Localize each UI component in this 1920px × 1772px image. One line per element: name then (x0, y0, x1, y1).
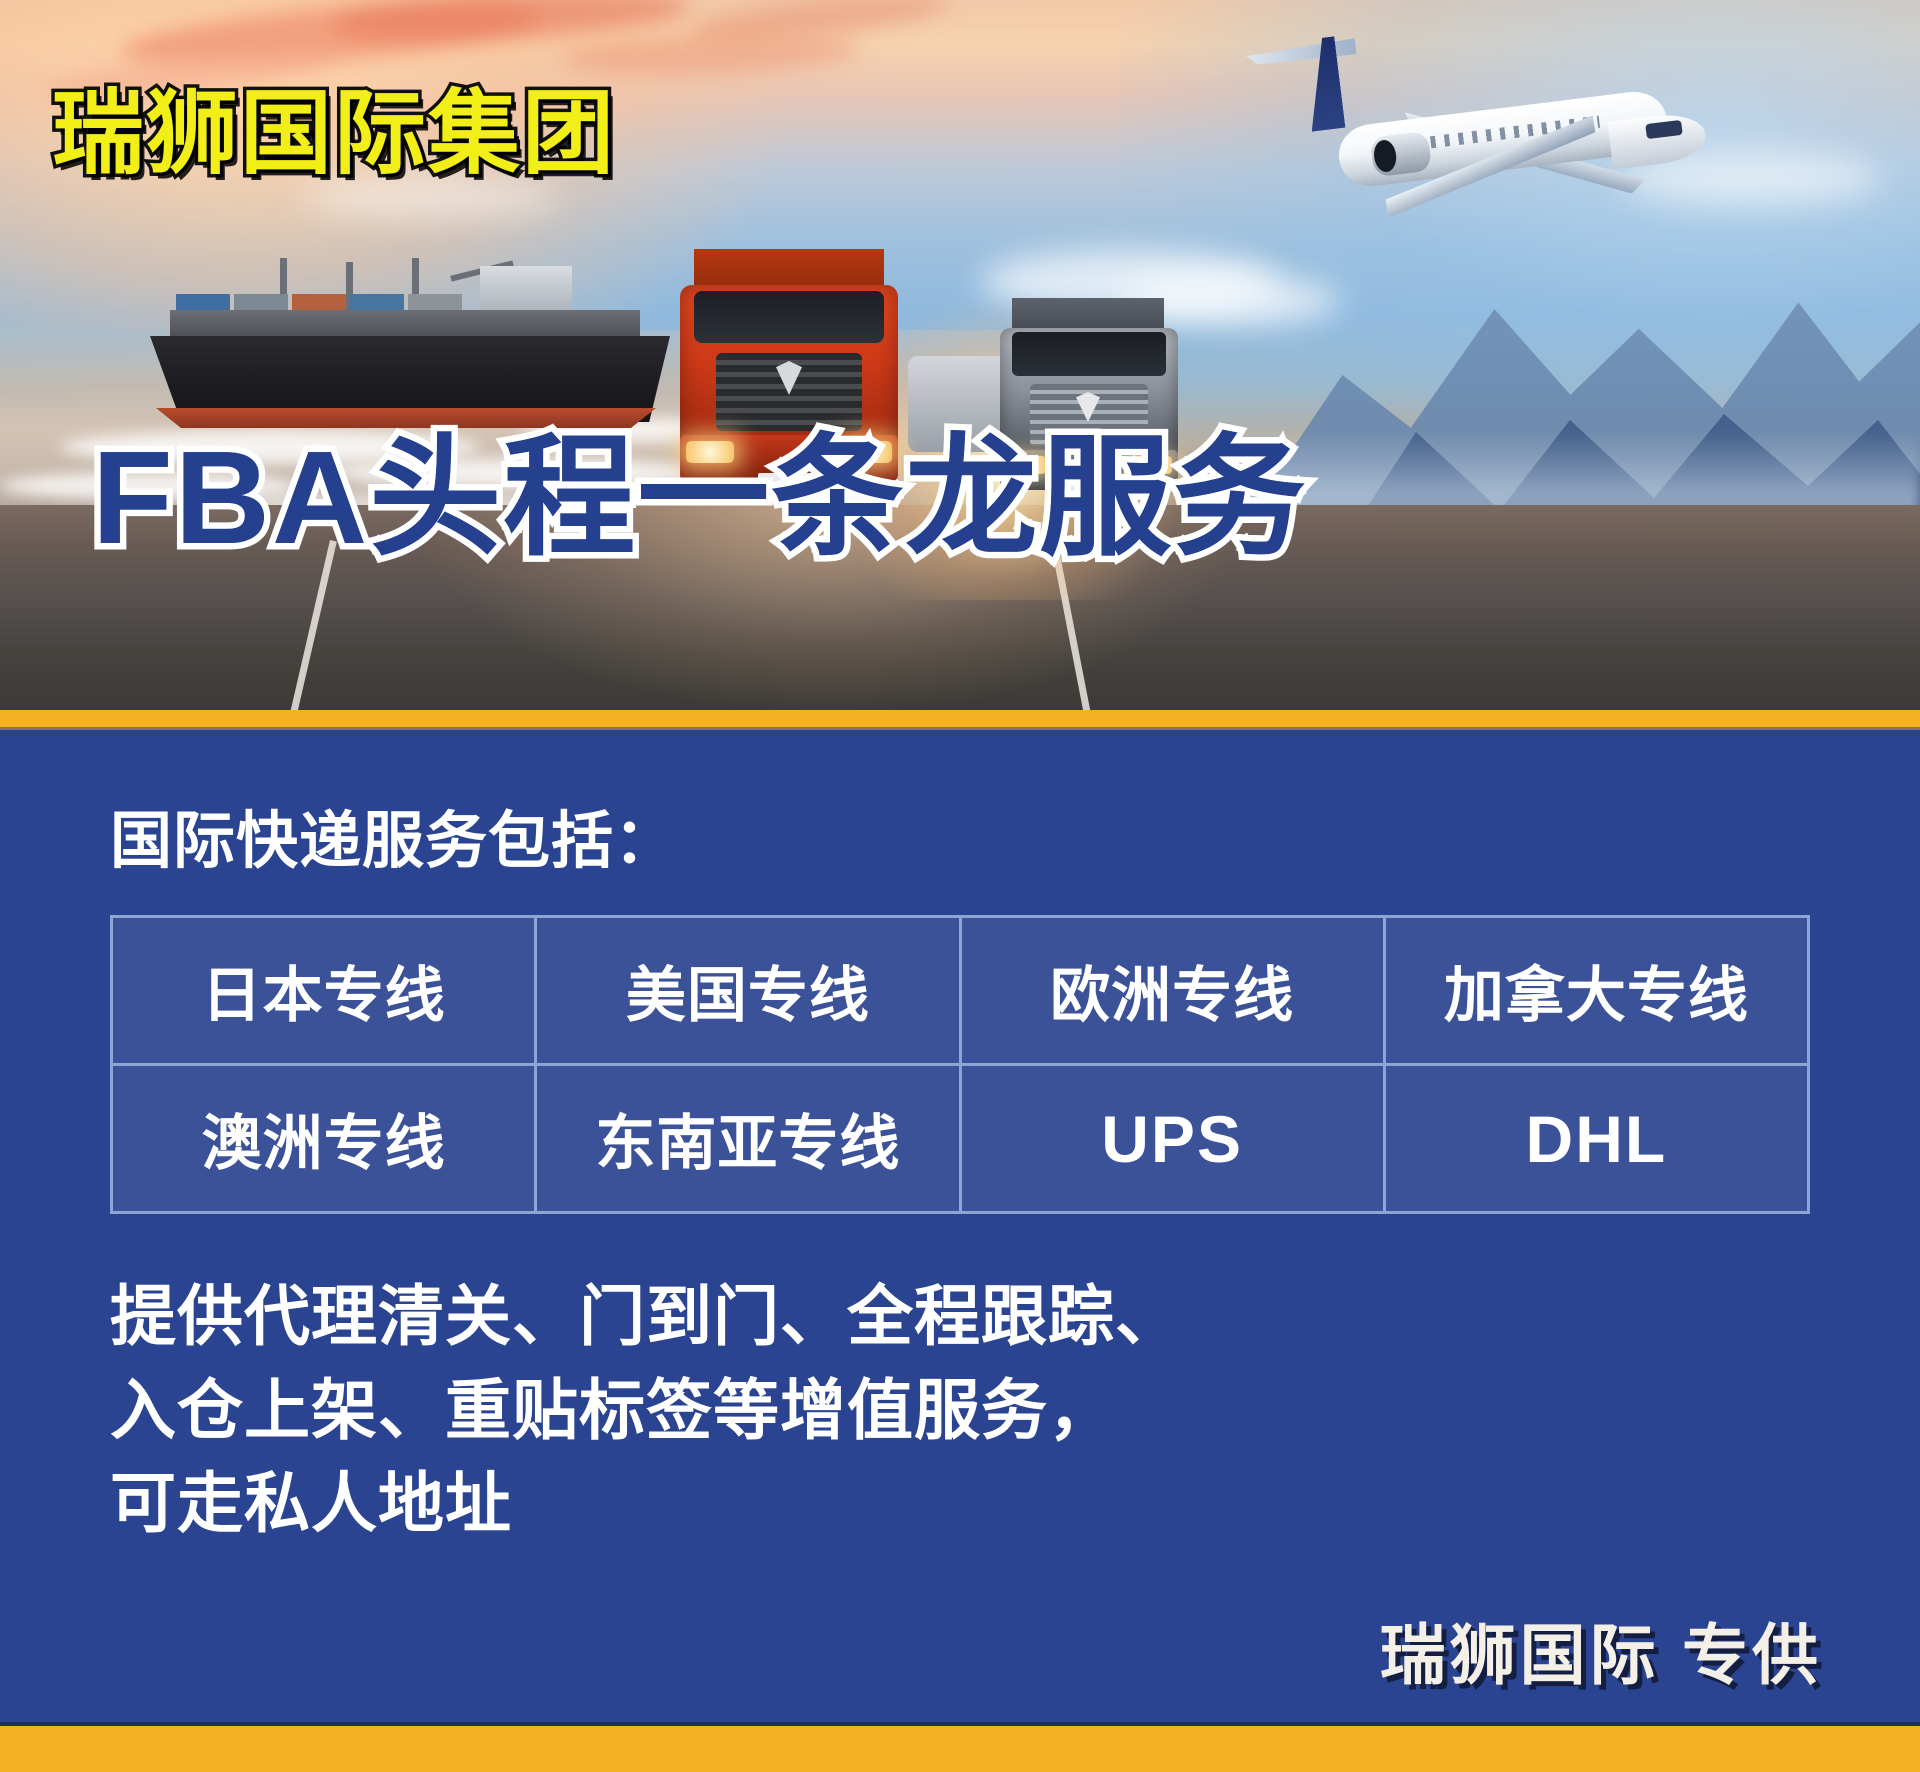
bottom-gold-bar (0, 1726, 1920, 1772)
service-cell-jp[interactable]: 日本专线 (112, 917, 536, 1065)
poster-root: 瑞狮国际集团 FBA头程一条龙服务 FBA头程一条龙服务 国际快递服务包括： 日… (0, 0, 1920, 1772)
info-panel: 国际快递服务包括： 日本专线 美国专线 欧洲专线 加拿大专线 澳洲专线 东南亚专… (0, 730, 1920, 1726)
cargo-ship-icon (150, 258, 670, 428)
hero-headline: FBA头程一条龙服务 (92, 432, 1307, 564)
windshield (1012, 332, 1166, 376)
service-cell-sea[interactable]: 东南亚专线 (536, 1065, 960, 1213)
nose-cone (1607, 110, 1708, 169)
windshield (694, 291, 884, 343)
hero-image: 瑞狮国际集团 FBA头程一条龙服务 FBA头程一条龙服务 (0, 0, 1920, 712)
brand-signature: 瑞狮国际 专供 (1380, 1602, 1822, 1698)
service-cell-au[interactable]: 澳洲专线 (112, 1065, 536, 1213)
table-row: 日本专线 美国专线 欧洲专线 加拿大专线 (112, 917, 1809, 1065)
services-table: 日本专线 美国专线 欧洲专线 加拿大专线 澳洲专线 东南亚专线 UPS DHL (110, 915, 1810, 1214)
service-cell-us[interactable]: 美国专线 (536, 917, 960, 1065)
service-cell-ups[interactable]: UPS (960, 1065, 1384, 1213)
ship-deck (170, 310, 640, 340)
service-cell-eu[interactable]: 欧洲专线 (960, 917, 1384, 1065)
service-cell-ca[interactable]: 加拿大专线 (1384, 917, 1808, 1065)
paragraph-line-1: 提供代理清关、门到门、全程跟踪、 (110, 1270, 1182, 1364)
service-cell-dhl[interactable]: DHL (1384, 1065, 1808, 1213)
section-title: 国际快递服务包括： (110, 790, 677, 880)
table-row: 澳洲专线 东南亚专线 UPS DHL (112, 1065, 1809, 1213)
paragraph-line-3: 可走私人地址 (110, 1457, 1182, 1551)
company-logo: 瑞狮国际集团 (52, 88, 616, 180)
paragraph-line-2: 入仓上架、重贴标签等增值服务， (110, 1364, 1182, 1458)
gold-divider (0, 710, 1920, 727)
airplane-icon (1280, 30, 1700, 220)
value-added-services-paragraph: 提供代理清关、门到门、全程跟踪、 入仓上架、重贴标签等增值服务， 可走私人地址 (110, 1270, 1182, 1551)
